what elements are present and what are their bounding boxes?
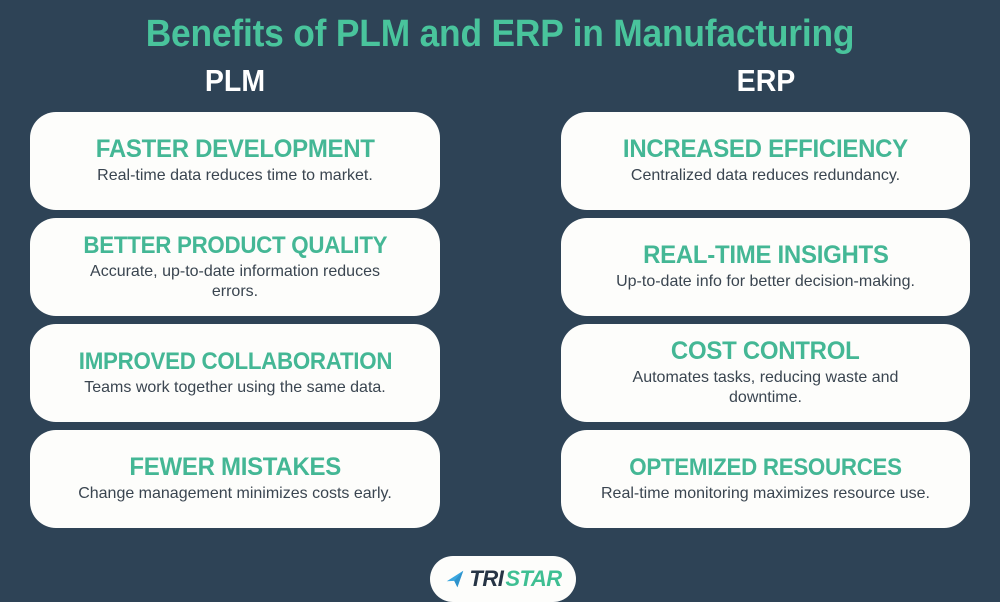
logo-text-tri: TRI [469, 567, 503, 591]
plm-column: FASTER DEVELOPMENT Real-time data reduce… [30, 112, 440, 528]
benefit-card-title: REAL-TIME INSIGHTS [643, 241, 888, 270]
erp-column: INCREASED EFFICIENCY Centralized data re… [561, 112, 970, 528]
benefit-card-description: Up-to-date info for better decision-maki… [616, 272, 915, 292]
benefit-card-description: Accurate, up-to-date information reduces… [85, 262, 385, 302]
benefit-card-description: Automates tasks, reducing waste and down… [601, 368, 931, 408]
benefit-card-title: FASTER DEVELOPMENT [96, 135, 375, 164]
benefit-card-title: OPTEMIZED RESOURCES [629, 453, 901, 482]
logo-text-star: STAR [505, 567, 561, 591]
benefit-card-description: Teams work together using the same data. [84, 378, 386, 398]
benefit-card[interactable]: IMPROVED COLLABORATION Teams work togeth… [30, 324, 440, 422]
benefit-card-title: IMPROVED COLLABORATION [78, 347, 391, 376]
benefit-card[interactable]: REAL-TIME INSIGHTS Up-to-date info for b… [561, 218, 970, 316]
page-title: Benefits of PLM and ERP in Manufacturing [35, 12, 965, 56]
triangle-arrow-icon [444, 568, 466, 590]
benefit-card-description: Real-time data reduces time to market. [97, 166, 373, 186]
benefit-card[interactable]: FEWER MISTAKES Change management minimiz… [30, 430, 440, 528]
column-header-erp: ERP [577, 63, 954, 99]
tristar-logo[interactable]: TRISTAR [430, 556, 576, 602]
benefit-card[interactable]: COST CONTROL Automates tasks, reducing w… [561, 324, 970, 422]
column-header-plm: PLM [46, 63, 423, 99]
benefit-card[interactable]: OPTEMIZED RESOURCES Real-time monitoring… [561, 430, 970, 528]
benefit-card[interactable]: INCREASED EFFICIENCY Centralized data re… [561, 112, 970, 210]
benefit-card-title: INCREASED EFFICIENCY [623, 135, 908, 164]
benefit-card-description: Real-time monitoring maximizes resource … [601, 484, 930, 504]
benefit-card-description: Centralized data reduces redundancy. [631, 166, 900, 186]
benefit-card-title: COST CONTROL [671, 337, 860, 366]
benefit-card-description: Change management minimizes costs early. [78, 484, 392, 504]
benefit-card[interactable]: BETTER PRODUCT QUALITY Accurate, up-to-d… [30, 218, 440, 316]
benefit-card[interactable]: FASTER DEVELOPMENT Real-time data reduce… [30, 112, 440, 210]
benefit-columns: FASTER DEVELOPMENT Real-time data reduce… [0, 112, 1000, 560]
infographic-root: Benefits of PLM and ERP in Manufacturing… [0, 0, 1000, 600]
benefit-card-title: FEWER MISTAKES [129, 453, 341, 482]
benefit-card-title: BETTER PRODUCT QUALITY [83, 231, 387, 260]
